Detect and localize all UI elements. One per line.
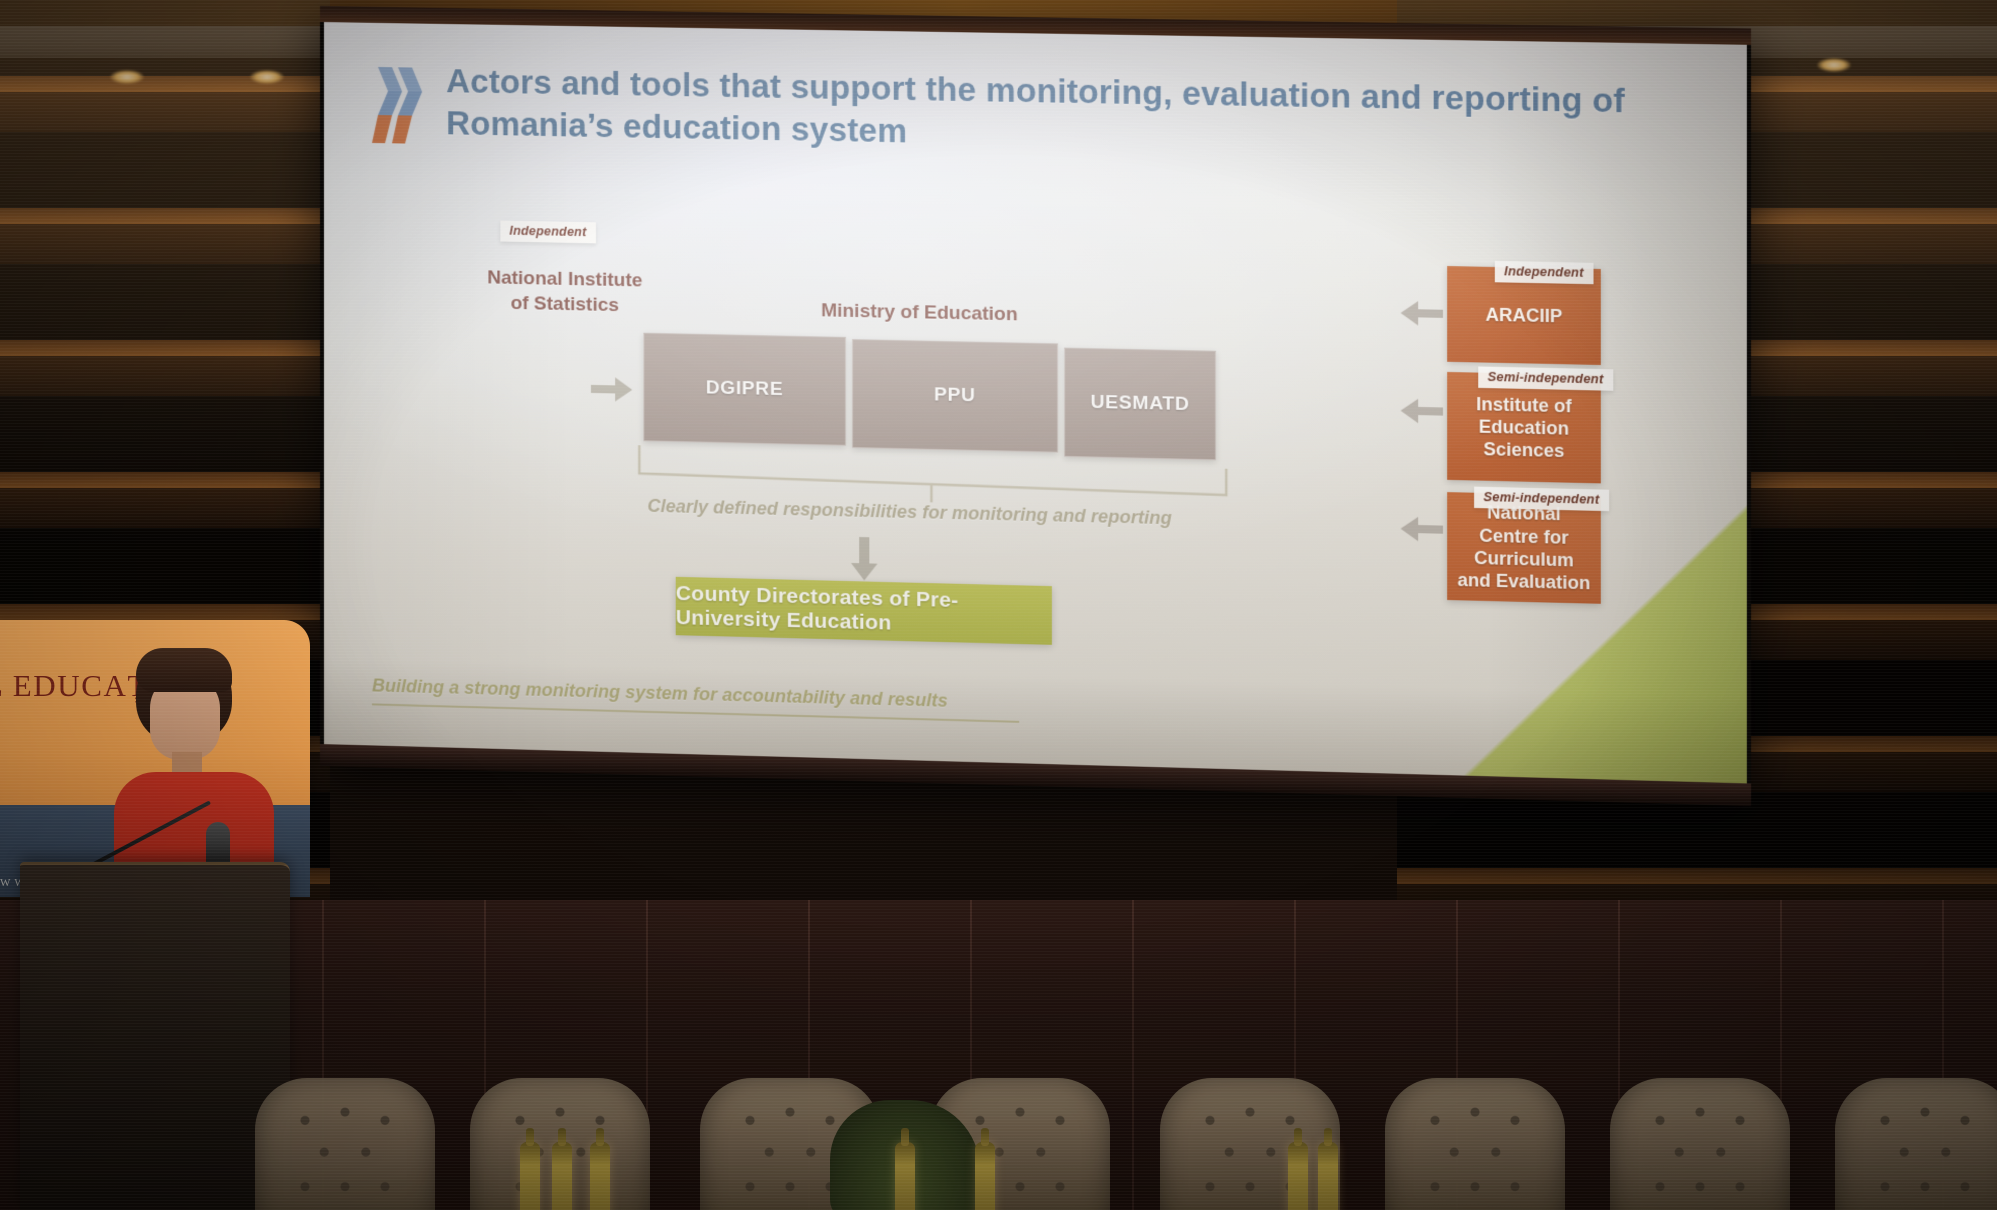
box-dgipre[interactable]: DGIPRE	[643, 333, 846, 446]
water-bottle	[590, 1142, 610, 1210]
chair	[1835, 1078, 1997, 1210]
conference-room-photo: Actors and tools that support the monito…	[0, 0, 1997, 1210]
podium-desk	[20, 862, 290, 1210]
speaker-fringe	[136, 648, 232, 692]
box-county-directorates-of-pre-university-education[interactable]: County Directorates of Pre-University Ed…	[676, 577, 1052, 645]
water-bottle	[520, 1142, 540, 1210]
label-nis-line2: of Statistics	[454, 290, 676, 320]
tag-independent-nis: Independent	[500, 220, 595, 243]
arrow-araciip-to-ministry-icon	[1400, 300, 1443, 327]
label-ministry-of-education: Ministry of Education	[767, 297, 1073, 329]
water-bottle	[1318, 1142, 1338, 1210]
label-national-institute-of-statistics: National Institute of Statistics	[454, 265, 676, 320]
chair	[255, 1078, 435, 1210]
chair	[1610, 1078, 1790, 1210]
arrow-into-dgipre-icon	[591, 376, 633, 403]
ceiling-spotlight-icon	[110, 70, 144, 84]
water-bottle	[1288, 1142, 1308, 1210]
water-bottle	[895, 1142, 915, 1210]
diagram-canvas: Independent National Institute of Statis…	[324, 22, 1747, 783]
arrow-ncce-to-ministry-icon	[1400, 515, 1443, 542]
arrow-ies-to-uesmatd-icon	[1400, 397, 1443, 424]
tag-semi-independent-ncce: Semi-independent	[1474, 487, 1609, 512]
water-bottle	[975, 1142, 995, 1210]
projection-screen: Actors and tools that support the monito…	[320, 6, 1751, 806]
chair	[1385, 1078, 1565, 1210]
ceiling-spotlight-icon	[250, 70, 284, 84]
tag-semi-independent-ies: Semi-independent	[1478, 366, 1613, 390]
presentation-slide: Actors and tools that support the monito…	[324, 22, 1747, 783]
box-ppu[interactable]: PPU	[852, 339, 1058, 453]
arrow-down-to-county-directorates-icon	[850, 537, 878, 582]
water-bottle	[552, 1142, 572, 1210]
chair	[1160, 1078, 1340, 1210]
tag-independent-araciip: Independent	[1495, 261, 1593, 284]
label-nis-line1: National Institute	[454, 265, 676, 295]
box-uesmatd[interactable]: UESMATD	[1064, 348, 1216, 461]
ceiling-spotlight-icon	[1817, 58, 1851, 72]
